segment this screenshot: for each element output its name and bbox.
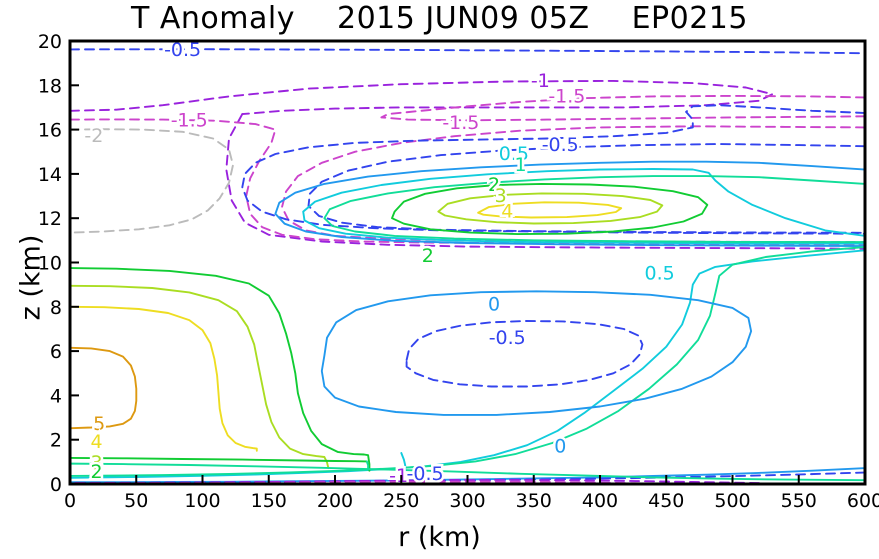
contour-canvas: -0.5-0.5-1-1-1.5-1.5-1.5-1.5-1.5-1.5-2-2… [0,0,879,559]
contour-label: -1 [531,70,550,92]
x-tick-label: 600 [847,490,879,512]
x-tick-label: 450 [648,490,684,512]
y-tick-label: 6 [50,341,62,363]
y-tick-label: 14 [38,164,62,186]
contour-label: 4 [501,201,513,223]
contour-line-1 [367,461,368,469]
x-tick-label: 550 [781,490,817,512]
contour-line-0p5 [70,250,865,477]
contour-line-3 [438,193,662,223]
contour-line-2 [70,458,367,462]
contour-labels-group: -0.5-0.5-1-1-1.5-1.5-1.5-1.5-1.5-1.5-2-2… [84,39,674,487]
x-tick-label: 200 [317,490,353,512]
contour-label: 0 [488,294,500,316]
contour-label: 0.5 [645,263,675,285]
y-tick-label: 16 [38,120,62,142]
contour-label: 0 [554,435,566,457]
y-tick-label: 8 [50,297,62,319]
contour-line-neg1p5 [70,119,865,244]
x-tick-label: 100 [184,490,220,512]
contour-label: 2 [90,461,102,483]
x-tick-label: 0 [64,490,76,512]
x-tick-label: 400 [582,490,618,512]
contour-plot-figure: T Anomaly 2015 JUN09 05Z EP0215 -0.5-0.5… [0,0,879,559]
x-axis-label: r (km) [0,522,879,553]
contour-line-neg0p5 [309,144,866,233]
y-tick-label: 20 [38,31,62,53]
contour-label: -0.5 [542,134,579,156]
contour-label: -1.5 [548,85,585,107]
contour-label: 2 [422,245,434,267]
contour-line-neg0p5 [242,105,865,234]
contour-line-3 [70,286,328,468]
y-axis-label: z (km) [16,203,47,353]
y-tick-label: 18 [38,75,62,97]
contour-label: 1 [514,154,526,176]
x-tick-label: 150 [251,490,287,512]
y-tick-label: 4 [50,385,62,407]
contour-label: 4 [90,431,102,453]
contour-line-1 [70,247,865,476]
y-tick-label: 0 [50,474,62,496]
contour-line-2 [70,268,369,471]
contour-label: -0.5 [407,463,444,485]
contour-label: -1.5 [442,112,479,134]
x-tick-label: 250 [383,490,419,512]
x-tick-label: 500 [714,490,750,512]
contour-label: -1.5 [171,110,208,132]
x-tick-label: 300 [449,490,485,512]
y-tick-label: 2 [50,430,62,452]
x-tick-label: 50 [124,490,148,512]
x-tick-label: 350 [516,490,552,512]
contour-label: -0.5 [489,327,526,349]
contour-label: -2 [84,125,103,147]
